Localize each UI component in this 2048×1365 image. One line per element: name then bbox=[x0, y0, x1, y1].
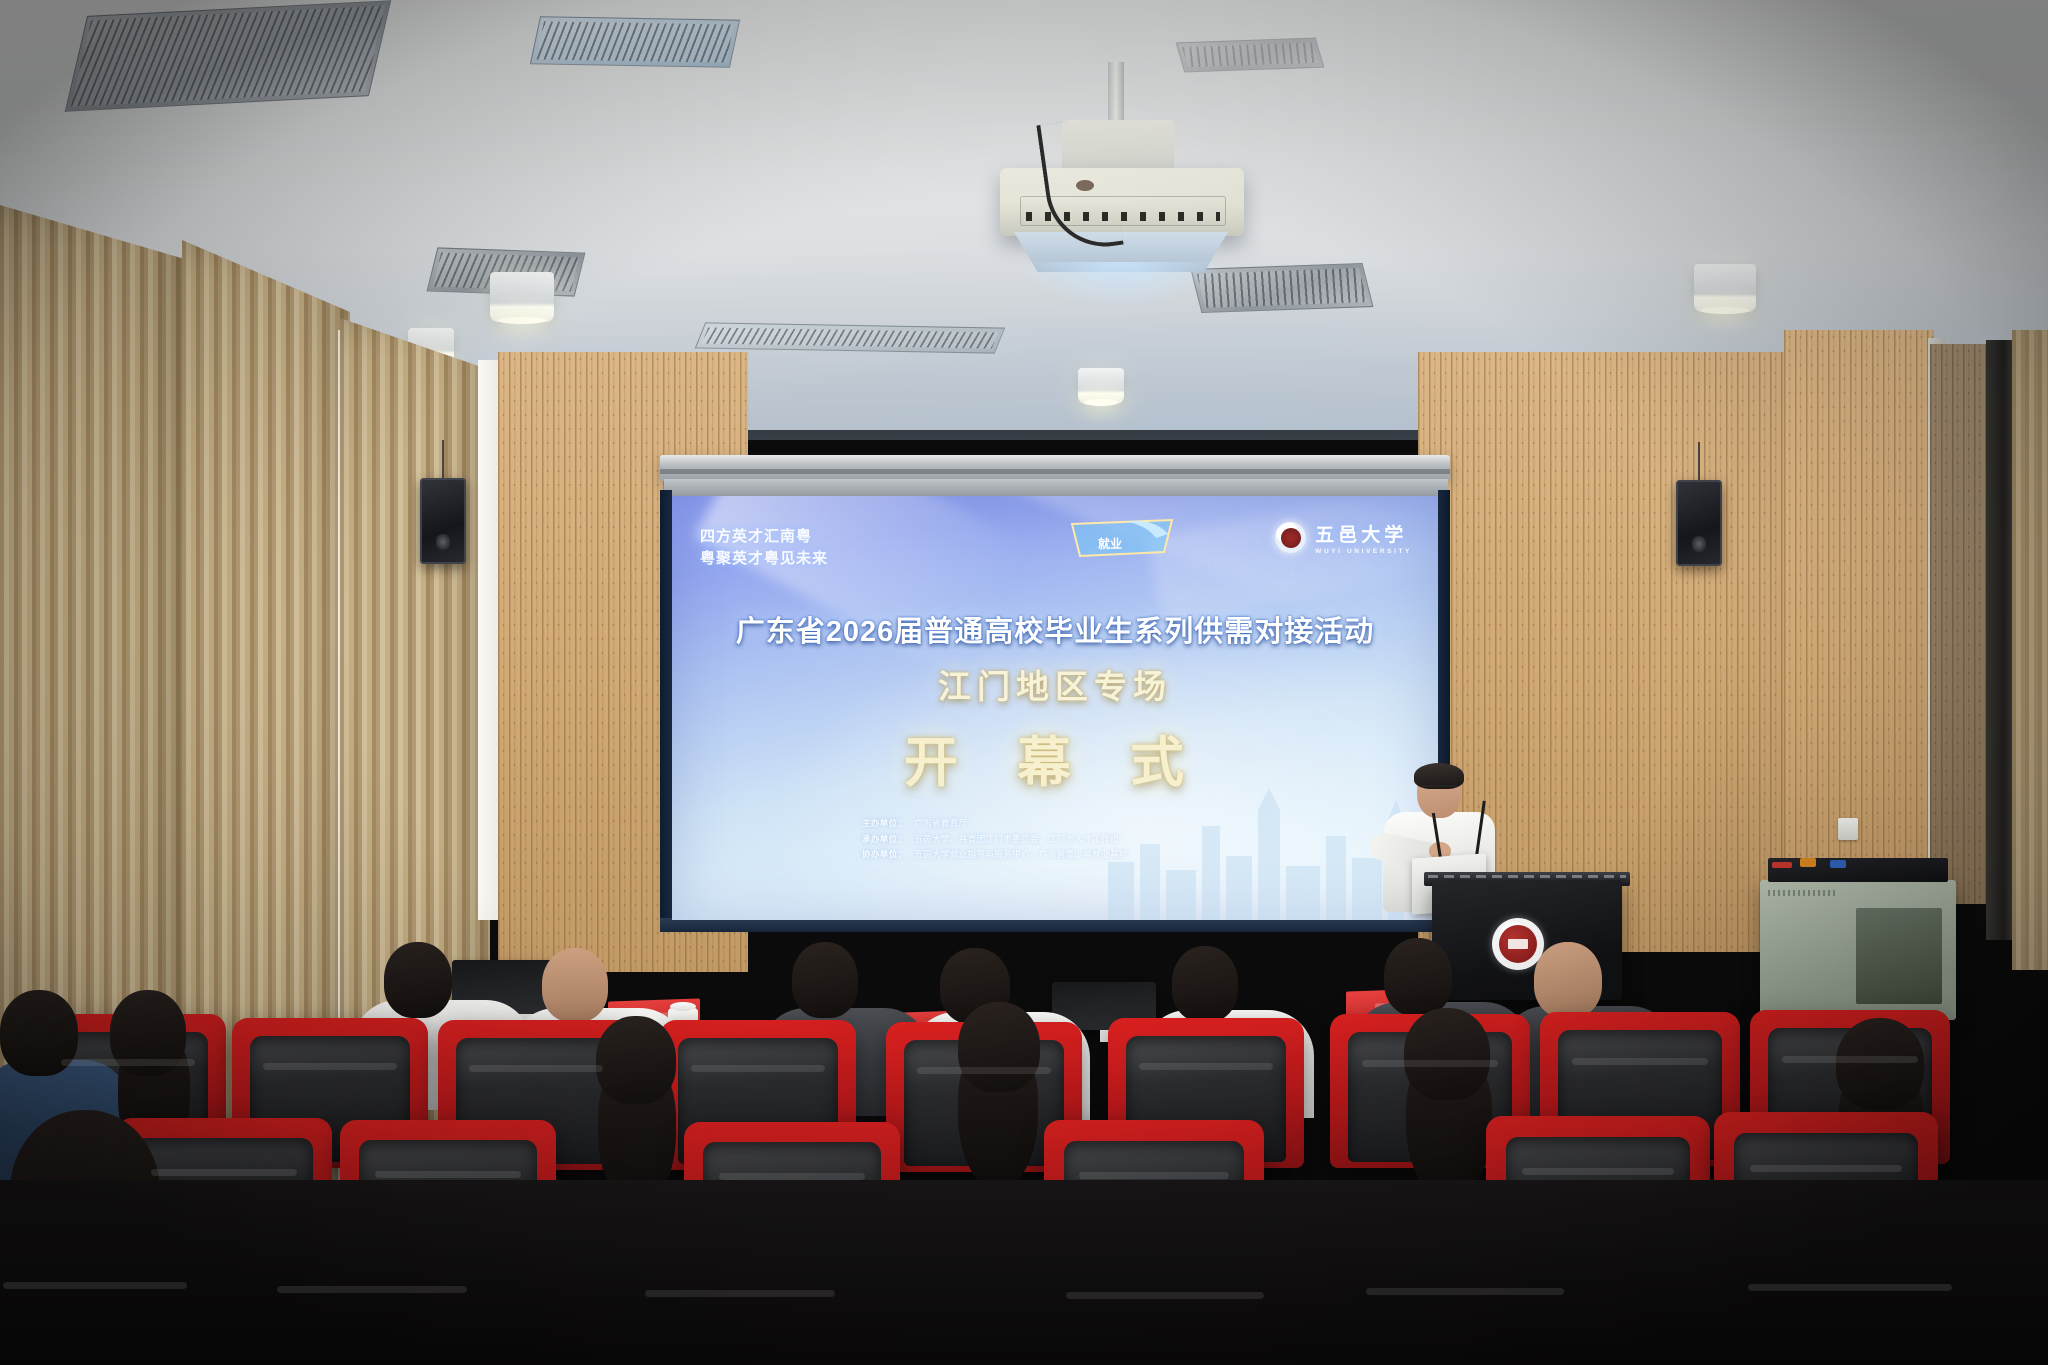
projection-screen: 四方英才汇南粤 粤聚英才粤见未来 就业 五邑大学 WUYI UNIVERSITY… bbox=[672, 496, 1438, 920]
badge-text: 就业 bbox=[1098, 536, 1122, 551]
slide-organizers: 主办单位： 广东省教育厅 承办单位： 五邑大学、共青团江门市委员会、江门市人才工… bbox=[862, 816, 1128, 863]
slide-university-logo: 五邑大学 WUYI UNIVERSITY bbox=[1275, 520, 1412, 555]
attendee-head bbox=[542, 948, 608, 1022]
wall-speaker-icon bbox=[420, 478, 466, 564]
downlight-icon bbox=[1694, 264, 1756, 312]
light-switch[interactable] bbox=[1838, 818, 1858, 840]
slide-light-ribbon bbox=[694, 496, 1029, 678]
attendee-head bbox=[1836, 1018, 1924, 1110]
speaker-cable bbox=[1698, 442, 1700, 484]
presenter-glasses bbox=[1421, 785, 1457, 792]
screen-housing bbox=[660, 455, 1450, 481]
speaker-cable bbox=[442, 440, 444, 482]
slide-title: 广东省2026届普通高校毕业生系列供需对接活动 bbox=[672, 608, 1438, 650]
organizer-role: 主办单位： bbox=[862, 818, 907, 828]
auditorium-photo: 四方英才汇南粤 粤聚英才粤见未来 就业 五邑大学 WUYI UNIVERSITY… bbox=[0, 0, 2048, 1365]
cabinet-glass-door[interactable] bbox=[1856, 908, 1942, 1004]
ceiling-vent-icon bbox=[1176, 38, 1325, 73]
attendee-head bbox=[384, 942, 452, 1018]
university-name-en: WUYI UNIVERSITY bbox=[1315, 548, 1412, 555]
organizer-role: 承办单位： bbox=[862, 834, 907, 844]
attendee-head bbox=[1384, 938, 1452, 1016]
slide-main-heading: 开 幕 式 bbox=[672, 718, 1438, 797]
ceiling-vent-icon bbox=[695, 322, 1006, 353]
badge-ribbon-icon: 就业 bbox=[1068, 518, 1176, 564]
slogan-line-2: 粤聚英才粤见未来 bbox=[700, 548, 828, 570]
ceiling-vent-icon bbox=[65, 0, 392, 112]
ceiling-vent-icon bbox=[530, 16, 740, 67]
equipment-cabinet bbox=[1760, 880, 1956, 1020]
slide-subtitle: 江门地区专场 bbox=[672, 660, 1438, 708]
curtain bbox=[2012, 330, 2048, 970]
attendee-head bbox=[1172, 946, 1238, 1022]
screen-border-left bbox=[660, 490, 672, 930]
organizer-value: 五邑大学、共青团江门市委员会、江门市人才工作组 bbox=[914, 834, 1119, 844]
attendee-head bbox=[958, 1002, 1040, 1092]
attendee-head bbox=[1534, 942, 1602, 1018]
projector-icon bbox=[1000, 168, 1244, 236]
university-name-cn: 五邑大学 bbox=[1315, 520, 1412, 547]
downlight-icon bbox=[490, 272, 554, 322]
downlight-icon bbox=[1078, 368, 1124, 404]
organizer-value: 广东省教育厅 bbox=[914, 818, 967, 828]
wall-speaker-icon bbox=[1676, 480, 1722, 566]
floor bbox=[0, 1180, 2048, 1365]
slogan-line-1: 四方英才汇南粤 bbox=[700, 526, 828, 548]
university-seal-icon bbox=[1275, 522, 1306, 553]
attendee-head bbox=[596, 1016, 676, 1104]
cabinet-equipment bbox=[1768, 858, 1948, 882]
organizer-row: 承办单位： 五邑大学、共青团江门市委员会、江门市人才工作组 bbox=[862, 832, 1128, 848]
slide-badge: 就业 bbox=[1068, 518, 1176, 564]
organizer-role: 协办单位： bbox=[862, 849, 907, 859]
equipment-indicator bbox=[1830, 860, 1846, 868]
slide-slogan: 四方英才汇南粤 粤聚英才粤见未来 bbox=[700, 526, 828, 570]
equipment-indicator bbox=[1800, 858, 1816, 867]
attendee-head bbox=[1404, 1008, 1490, 1100]
projector-light-beam bbox=[1020, 262, 1220, 306]
equipment-indicator bbox=[1772, 862, 1792, 868]
organizer-value: 五邑大学就业指导与服务中心、广东省青少年就业基地 bbox=[914, 849, 1128, 859]
organizer-row: 协办单位： 五邑大学就业指导与服务中心、广东省青少年就业基地 bbox=[862, 847, 1128, 863]
screen-border-bottom bbox=[660, 918, 1450, 932]
cabinet-vent bbox=[1768, 890, 1838, 896]
organizer-row: 主办单位： 广东省教育厅 bbox=[862, 816, 1128, 832]
attendee-head bbox=[792, 942, 858, 1018]
